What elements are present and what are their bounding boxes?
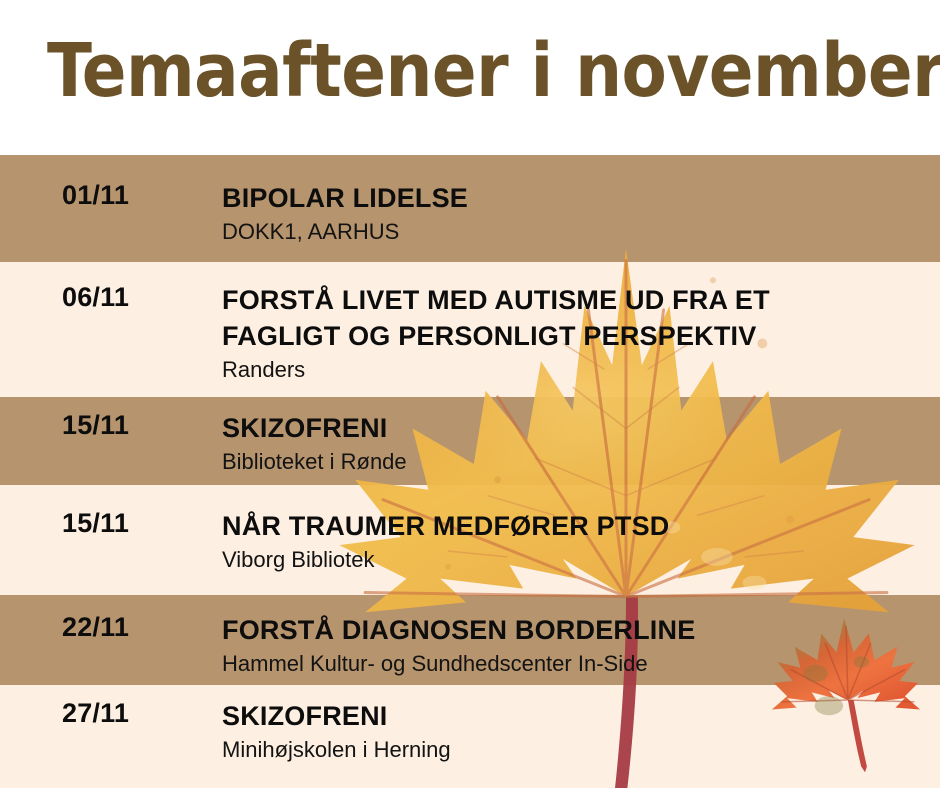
event-title: BIPOLAR LIDELSE [222, 180, 922, 216]
event-content: SKIZOFRENIMinihøjskolen i Herning [222, 698, 922, 765]
event-date: 15/11 [62, 508, 129, 539]
event-venue: Viborg Bibliotek [222, 545, 922, 575]
event-date: 06/11 [62, 282, 129, 313]
event-date: 22/11 [62, 612, 129, 643]
event-title: FORSTÅ DIAGNOSEN BORDERLINE [222, 612, 922, 648]
event-venue: Minihøjskolen i Herning [222, 735, 922, 765]
event-venue: Hammel Kultur- og Sundhedscenter In-Side [222, 649, 922, 679]
poster-canvas: Temaaftener i november 01/11BIPOLAR LIDE… [0, 0, 940, 788]
event-title: SKIZOFRENI [222, 410, 922, 446]
title-band: Temaaftener i november [0, 0, 940, 155]
event-title: NÅR TRAUMER MEDFØRER PTSD [222, 508, 922, 544]
event-content: FORSTÅ LIVET MED AUTISME UD FRA ET FAGLI… [222, 282, 922, 385]
event-venue: DOKK1, AARHUS [222, 217, 922, 247]
event-venue: Biblioteket i Rønde [222, 447, 922, 477]
event-title: SKIZOFRENI [222, 698, 922, 734]
event-content: SKIZOFRENIBiblioteket i Rønde [222, 410, 922, 477]
event-content: BIPOLAR LIDELSEDOKK1, AARHUS [222, 180, 922, 247]
event-title: FORSTÅ LIVET MED AUTISME UD FRA ET FAGLI… [222, 282, 922, 354]
event-content: FORSTÅ DIAGNOSEN BORDERLINEHammel Kultur… [222, 612, 922, 679]
page-title: Temaaftener i november [47, 28, 898, 114]
event-date: 15/11 [62, 410, 129, 441]
event-content: NÅR TRAUMER MEDFØRER PTSDViborg Bibliote… [222, 508, 922, 575]
event-date: 27/11 [62, 698, 129, 729]
event-venue: Randers [222, 355, 922, 385]
event-date: 01/11 [62, 180, 129, 211]
